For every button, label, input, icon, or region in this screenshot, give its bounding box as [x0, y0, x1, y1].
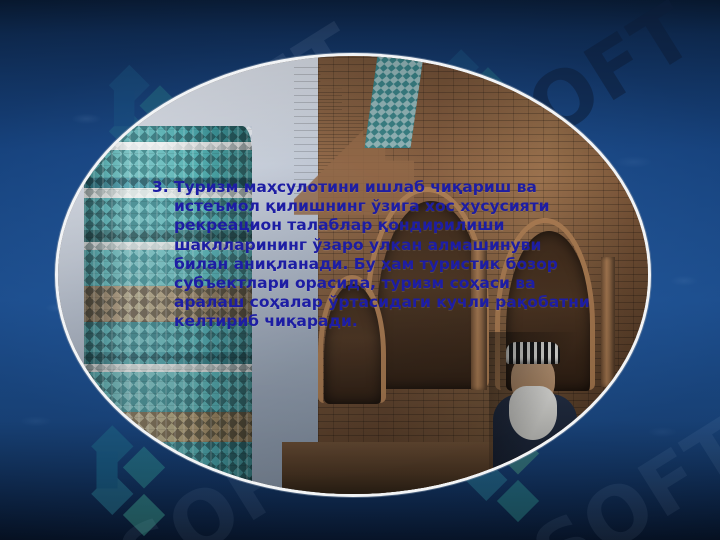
slide-body-text: 3. Туризм маҳсулотини ишлаб чиқариш ва и…: [152, 178, 594, 332]
slide-canvas: SOFT SOFT SOFT: [0, 0, 720, 540]
